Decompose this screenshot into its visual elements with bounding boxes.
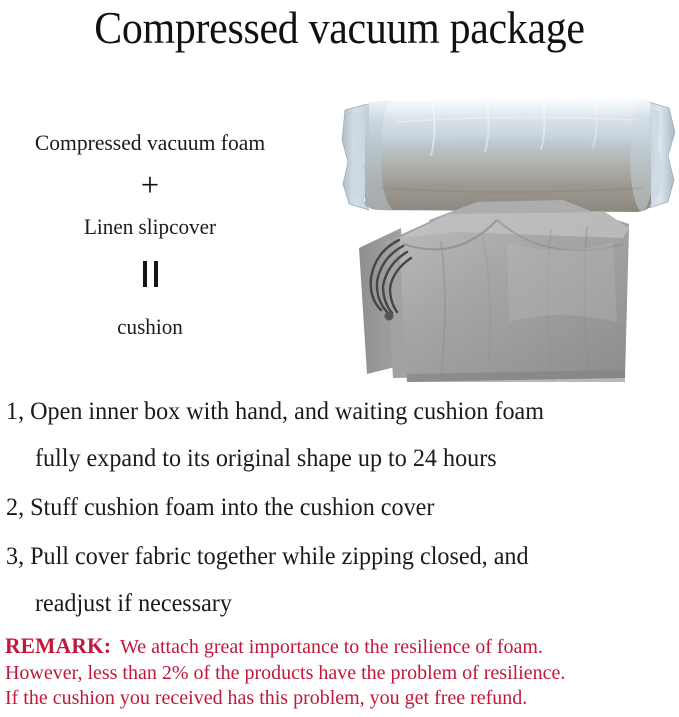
- equals-bar-left: [143, 261, 147, 287]
- product-info-graphic: Compressed vacuum package Compressed vac…: [0, 0, 679, 717]
- equation-term-foam: Compressed vacuum foam: [6, 128, 294, 158]
- instruction-steps: 1, Open inner box with hand, and waiting…: [6, 388, 674, 627]
- product-photo-illustration: [337, 92, 679, 382]
- step-1-line-1: 1, Open inner box with hand, and waiting…: [6, 388, 651, 435]
- equation-term-slipcover: Linen slipcover: [6, 208, 294, 242]
- product-photo: [337, 92, 679, 382]
- equation-result-cushion: cushion: [6, 294, 294, 342]
- step-3-line-1: 3, Pull cover fabric together while zipp…: [6, 533, 651, 580]
- foam-roll: [342, 98, 675, 212]
- equals-bar-right: [154, 261, 158, 287]
- remark-block: REMARK:We attach great importance to the…: [5, 633, 677, 712]
- remark-first-line: REMARK:We attach great importance to the…: [5, 633, 660, 661]
- step-2-line-1: 2, Stuff cushion foam into the cushion c…: [6, 484, 651, 531]
- page-title: Compressed vacuum package: [24, 0, 655, 56]
- zipper-pull-icon: [385, 312, 394, 321]
- remark-text-line-1: We attach great importance to the resili…: [111, 636, 543, 658]
- remark-label: REMARK:: [5, 633, 111, 658]
- remark-text-line-2: However, less than 2% of the products ha…: [5, 661, 660, 687]
- folded-slipcover: [359, 200, 629, 382]
- remark-text-line-3: If the cushion you received has this pro…: [5, 686, 660, 712]
- step-1-line-2: fully expand to its original shape up to…: [6, 435, 651, 482]
- equals-icon: [0, 242, 300, 294]
- step-3-line-2: readjust if necessary: [6, 580, 651, 627]
- equation-block: Compressed vacuum foam + Linen slipcover…: [0, 128, 300, 342]
- plus-icon: +: [6, 158, 294, 208]
